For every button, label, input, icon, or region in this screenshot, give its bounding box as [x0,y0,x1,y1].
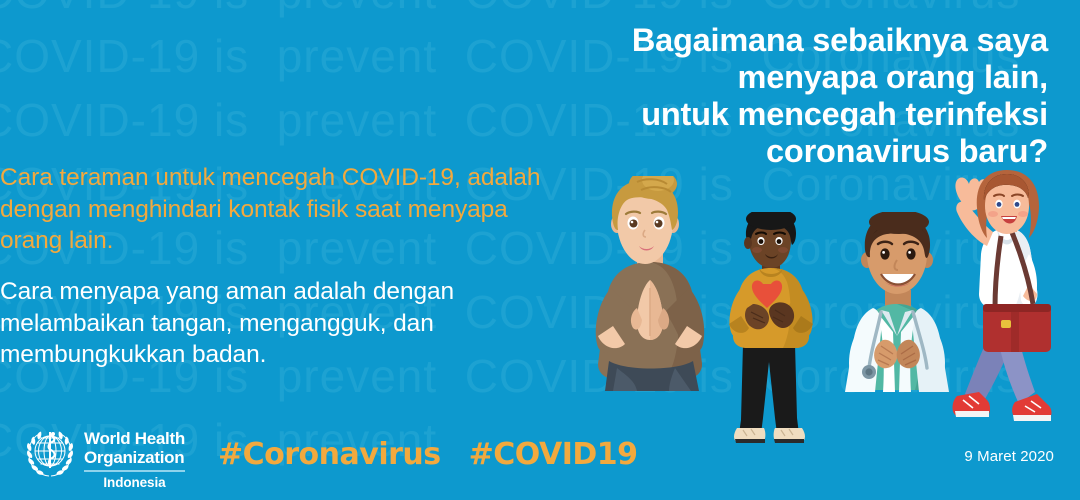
body-paragraph-safe-greetings: Cara menyapa yang aman adalah dengan mel… [0,276,545,371]
publish-date: 9 Maret 2020 [964,448,1054,465]
who-country-label: Indonesia [84,475,185,490]
headline-line-2: menyapa orang lain, [408,59,1048,96]
doctor-illustration [833,212,961,427]
person-hand-on-heart-illustration [717,212,827,452]
who-wordmark: World Health Organization Indonesia [84,428,185,490]
headline-line-3: untuk mencegah terinfeksi [408,96,1048,133]
headline-line-1: Bagaimana sebaiknya saya [408,22,1048,59]
who-name-line-2: Organization [84,449,185,468]
poster-canvas: COVID-19 is prevent COVID-19 is Coronavi… [0,0,1080,500]
who-logo: World Health Organization Indonesia [25,428,185,490]
hashtag-coronavirus[interactable]: #Coronavirus [218,437,441,472]
hashtag-group: #Coronavirus #COVID19 [218,437,638,472]
woman-namaste-illustration [565,176,735,401]
who-emblem-icon [25,428,75,480]
who-divider [84,470,185,472]
who-name-line-1: World Health [84,430,185,449]
page-title: Bagaimana sebaiknya saya menyapa orang l… [408,22,1048,170]
woman-waving-illustration [943,170,1073,440]
illustration-group [565,170,1080,460]
body-paragraph-prevention: Cara teraman untuk mencegah COVID-19, ad… [0,162,545,257]
hashtag-covid19[interactable]: #COVID19 [469,437,638,472]
